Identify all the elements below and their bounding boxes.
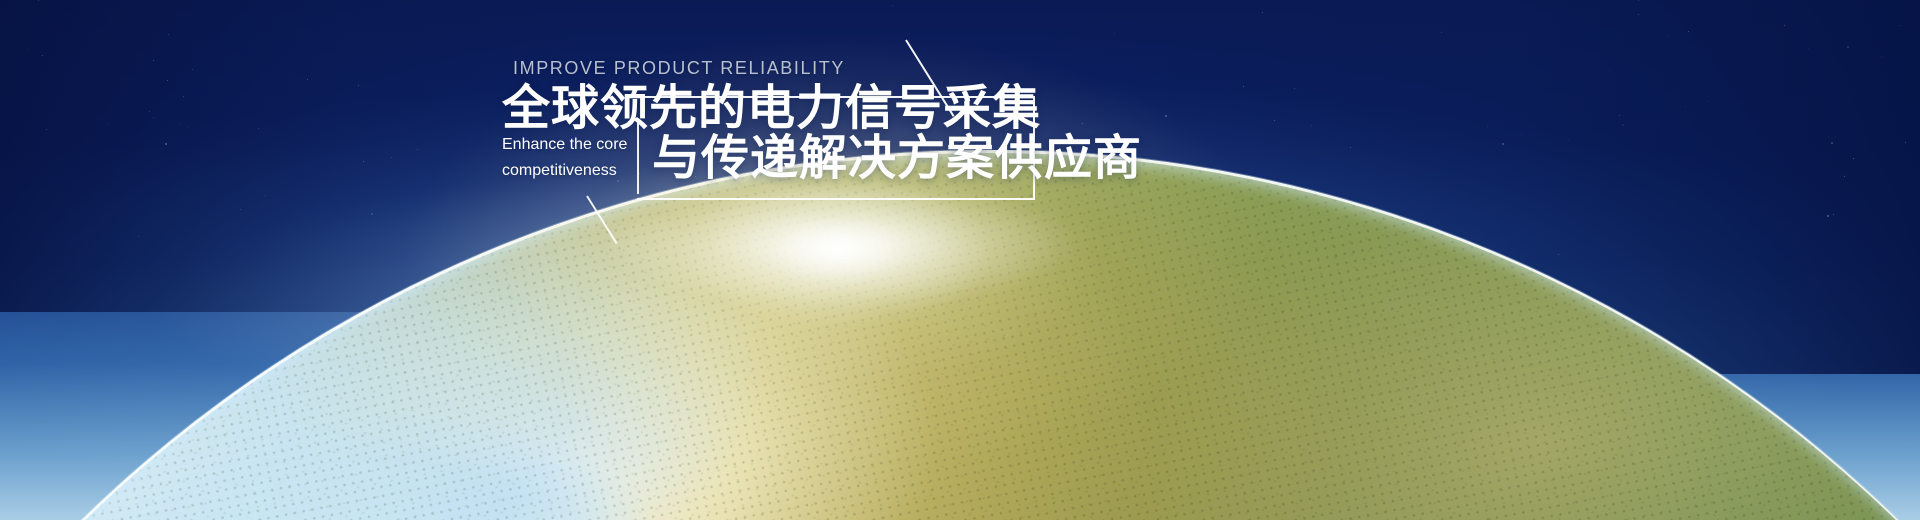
diagonal-accent-bottom-left-icon bbox=[586, 195, 617, 244]
banner-headline-line-2: 与传递解决方案供应商 bbox=[652, 131, 1142, 186]
hero-banner: IMPROVE PRODUCT RELIABILITY 全球领先的电力信号采集 … bbox=[0, 0, 1920, 520]
banner-content: IMPROVE PRODUCT RELIABILITY 全球领先的电力信号采集 … bbox=[0, 0, 1920, 520]
banner-eyebrow: IMPROVE PRODUCT RELIABILITY bbox=[513, 58, 845, 79]
